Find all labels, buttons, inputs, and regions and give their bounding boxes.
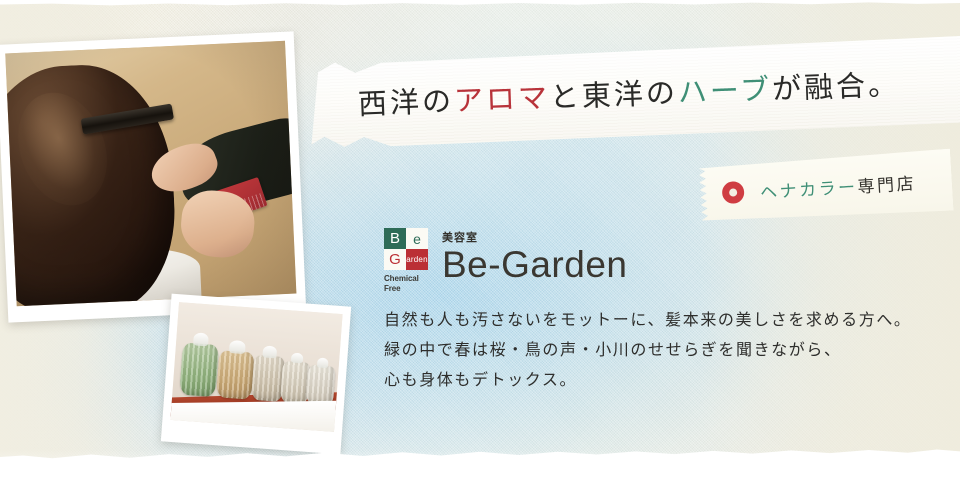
copy-line: 自然も人も汚さないをモットーに、髪本来の美しさを求める方へ。 — [384, 306, 944, 336]
hero-banner: 西洋のアロマと東洋のハーブが融合。 ヘナカラー専門店 B e G — [0, 0, 960, 480]
herb-jar — [216, 350, 254, 400]
brand-sub-label: 美容室 — [442, 229, 628, 245]
herb-jar — [179, 343, 219, 397]
headline-part-3: が融合。 — [772, 69, 901, 106]
brand-name: Be-Garden — [442, 246, 628, 285]
headline-part-1: 西洋の — [357, 86, 454, 121]
headline-accent-aroma: アロマ — [453, 82, 550, 117]
jar-ribs — [179, 343, 219, 397]
logo-cell-arden: arden — [406, 249, 428, 270]
jars-shelf-front-panel — [170, 401, 342, 432]
herb-jars-photo-image — [170, 302, 342, 432]
logo-cell-g: G — [384, 249, 406, 270]
brand-lockup: B e G arden Chemical Free 美容室 Be-Garden — [384, 228, 628, 294]
stylist-photo-polaroid — [0, 31, 306, 322]
be-garden-logo: B e G arden Chemical Free — [384, 228, 428, 294]
herb-jar — [306, 365, 335, 406]
stylist-photo-image — [5, 41, 296, 306]
logo-cell-e: e — [406, 228, 428, 249]
jar-ribs — [216, 350, 254, 400]
logo-chemical-free-tagline: Chemical Free — [384, 274, 428, 294]
badge-label-specialty: 専門店 — [857, 174, 917, 196]
logo-cell-b: B — [384, 228, 406, 249]
logo-grid: B e G arden — [384, 228, 428, 270]
herb-jars-photo-polaroid — [161, 294, 351, 455]
jar-ribs — [306, 365, 335, 406]
copy-line: 心も身体もデトックス。 — [384, 366, 944, 396]
headline-part-2: と東洋の — [549, 78, 678, 115]
copy-line: 緑の中で春は桜・鳥の声・小川のせせらぎを聞きながら、 — [384, 336, 944, 366]
photo-vignette — [5, 41, 296, 306]
headline-accent-herb: ハーブ — [677, 74, 772, 109]
body-copy: 自然も人も汚さないをモットーに、髪本来の美しさを求める方へ。 緑の中で春は桜・鳥… — [384, 306, 944, 396]
